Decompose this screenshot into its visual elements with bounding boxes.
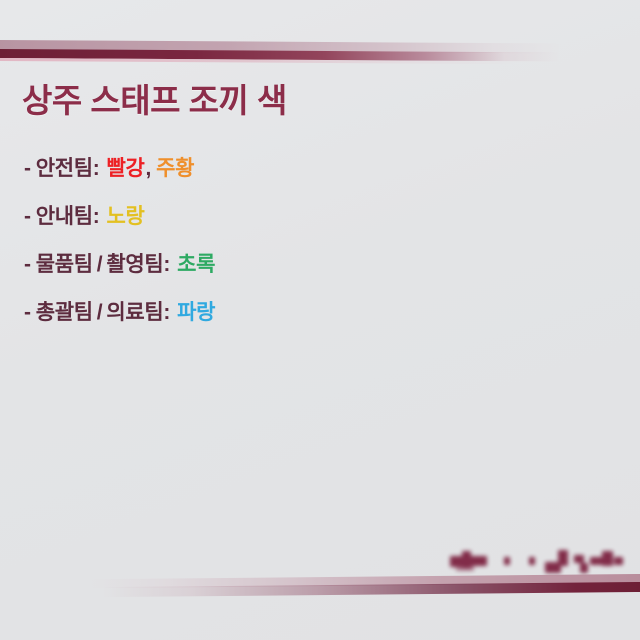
bottom-accent-rule <box>0 574 640 596</box>
staff-vest-color-list: - 안전팀 : 빨강 , 주황 - 안내팀 : 노랑 - 물품팀 / 촬영팀 :… <box>24 152 584 344</box>
colon: : <box>93 205 100 229</box>
list-item: - 물품팀 / 촬영팀 : 초록 <box>24 248 584 296</box>
colon: : <box>163 301 170 325</box>
colon: : <box>163 253 170 277</box>
list-item: - 안내팀 : 노랑 <box>24 200 584 248</box>
bullet-dash: - <box>24 205 31 229</box>
colon: : <box>93 157 100 181</box>
page-title: 상주 스태프 조끼 색 <box>22 74 287 122</box>
bullet-dash: - <box>24 301 31 325</box>
team-label-primary: 물품팀 <box>36 248 93 278</box>
team-label: 안전팀 <box>36 152 93 182</box>
top-rule-dark-band <box>0 49 560 61</box>
bullet-dash: - <box>24 157 31 181</box>
team-label-secondary: 촬영팀 <box>106 248 163 278</box>
presentation-slide: 상주 스태프 조끼 색 - 안전팀 : 빨강 , 주황 - 안내팀 : 노랑 -… <box>0 0 640 640</box>
color-value: 초록 <box>177 248 215 278</box>
slash-separator: / <box>97 301 103 325</box>
team-label: 안내팀 <box>36 200 93 230</box>
redacted-caption <box>446 548 622 578</box>
top-accent-rule <box>0 40 560 66</box>
top-rule-light-band <box>0 40 560 53</box>
team-label-primary: 총괄팀 <box>36 296 93 326</box>
top-rule-hairline <box>0 58 560 64</box>
team-label-secondary: 의료팀 <box>106 296 163 326</box>
slash-separator: / <box>97 253 103 277</box>
color-value: 주황 <box>156 152 194 182</box>
color-value: 빨강 <box>106 152 144 182</box>
list-item: - 안전팀 : 빨강 , 주황 <box>24 152 584 200</box>
bottom-rule-light-band <box>0 574 640 589</box>
bullet-dash: - <box>24 253 31 277</box>
list-item: - 총괄팀 / 의료팀 : 파랑 <box>24 296 584 344</box>
bottom-rule-dark-band <box>0 582 640 598</box>
color-value: 파랑 <box>177 296 215 326</box>
color-value: 노랑 <box>106 200 144 230</box>
value-separator: , <box>146 157 152 181</box>
